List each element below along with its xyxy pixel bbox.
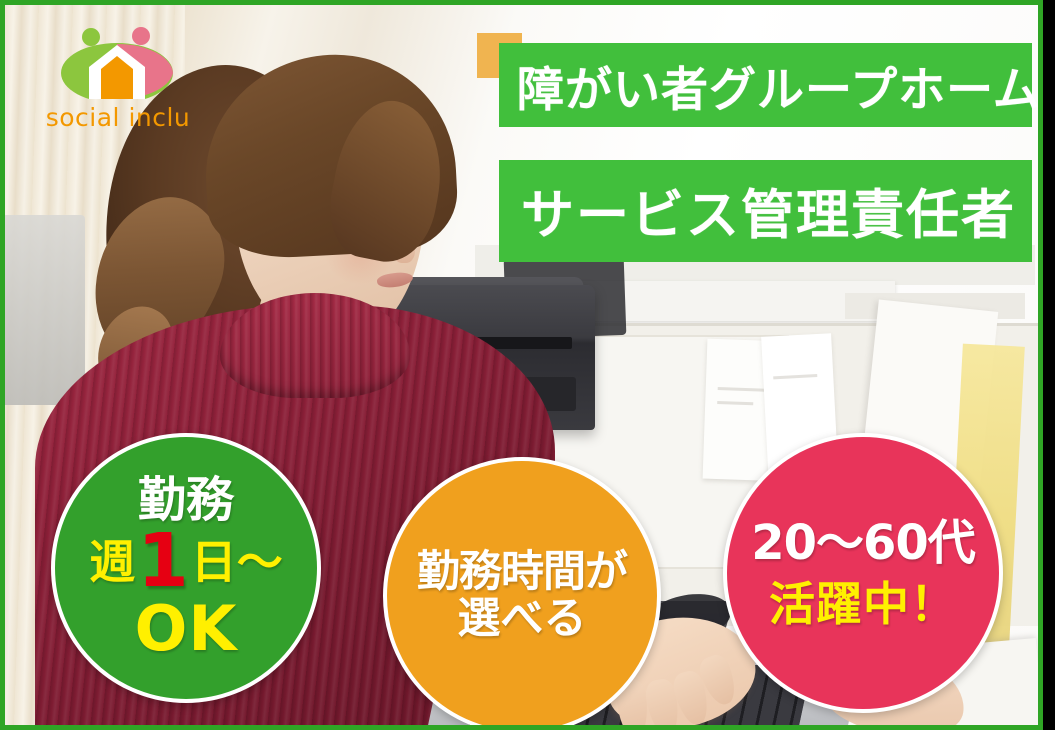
badge-work-days-line2: 週 1 日〜 xyxy=(89,532,283,591)
badge-work-days-ok: OK xyxy=(135,598,238,660)
headline-banner-service-type: 障がい者グループホーム xyxy=(499,43,1032,127)
green-frame: social inclu 障がい者グループホーム サービス管理責任者 勤務 週 … xyxy=(0,0,1043,730)
badge-age-range-line2: 活躍中！ xyxy=(769,581,957,627)
headline-banner-job-title-label: サービス管理責任者 xyxy=(499,173,1016,249)
badge-work-days: 勤務 週 1 日〜 OK xyxy=(51,433,321,703)
monitor-left xyxy=(5,215,85,405)
badge-work-days-week-label: 週 xyxy=(89,539,135,585)
badge-work-days-line1: 勤務 xyxy=(138,476,234,524)
badge-age-range-line1: 20〜60代 xyxy=(751,519,975,567)
logo-mark-icon xyxy=(57,27,177,99)
right-black-gutter xyxy=(1043,0,1055,730)
brand-logo[interactable]: social inclu xyxy=(33,27,203,137)
headline-banner-service-type-label: 障がい者グループホーム xyxy=(499,51,1038,120)
photo-background: social inclu 障がい者グループホーム サービス管理責任者 勤務 週 … xyxy=(5,5,1038,725)
logo-text: social inclu xyxy=(33,103,203,132)
badge-work-days-day-label: 日〜 xyxy=(191,539,283,585)
badge-work-hours-line2: 選べる xyxy=(458,596,587,643)
badge-work-hours-line1: 勤務時間が xyxy=(417,549,627,596)
badge-age-range: 20〜60代 活躍中！ xyxy=(723,433,1003,713)
badge-work-days-number: 1 xyxy=(137,532,189,591)
headline-banner-job-title: サービス管理責任者 xyxy=(499,160,1032,262)
badge-work-hours: 勤務時間が 選べる xyxy=(383,457,661,725)
ad-banner-screenshot: social inclu 障がい者グループホーム サービス管理責任者 勤務 週 … xyxy=(0,0,1055,730)
